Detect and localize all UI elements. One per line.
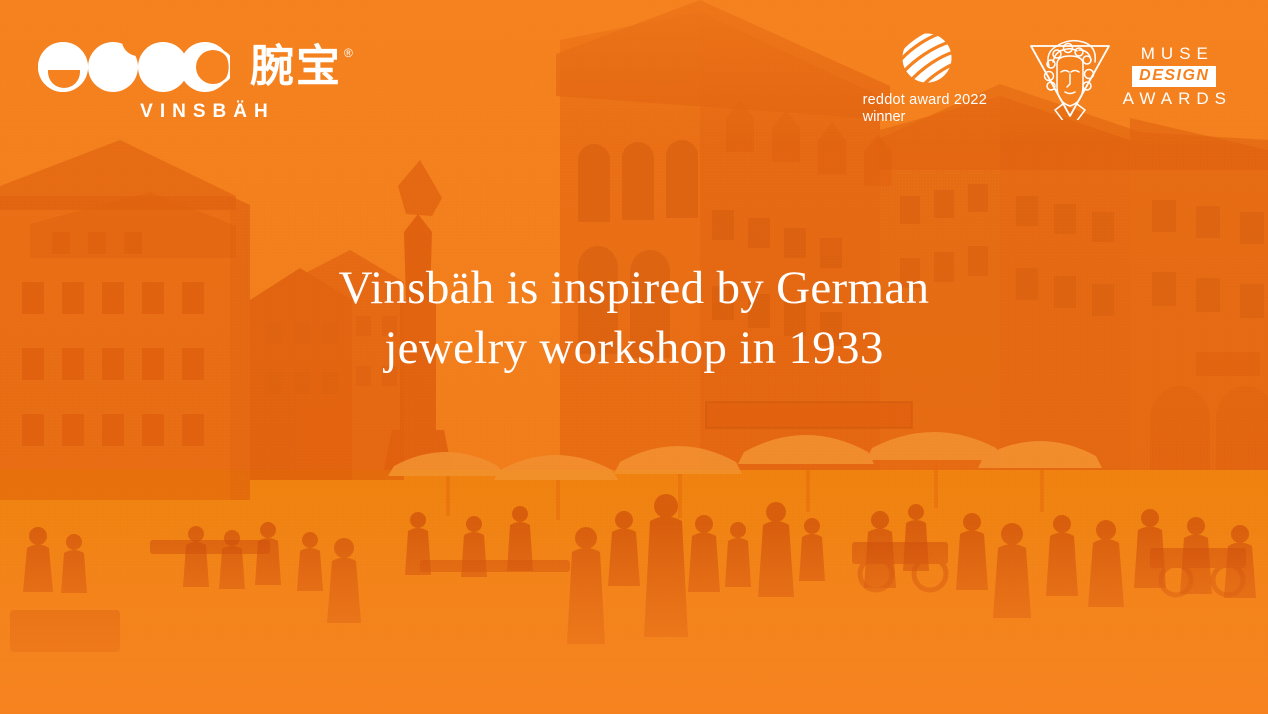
vinsbah-circles-logo — [38, 42, 230, 92]
muse-line-3: AWARDS — [1117, 90, 1232, 108]
award-badges: reddot award 2022 winner — [857, 32, 1232, 126]
chinese-brand-name: 腕宝 — [250, 43, 342, 91]
reddot-award-badge: reddot award 2022 winner — [857, 32, 997, 126]
muse-line-2: DESIGN — [1132, 66, 1216, 87]
brand-logo: 腕宝 ® VINSBÄH — [38, 42, 353, 123]
reddot-award-subtitle: winner — [857, 109, 997, 126]
headline-line-2: jewelry workshop in 1933 — [0, 318, 1268, 378]
reddot-sphere-icon — [901, 32, 953, 84]
logo-circles-row: 腕宝 ® — [38, 42, 353, 92]
headline: Vinsbäh is inspired by German jewelry wo… — [0, 258, 1268, 378]
muse-award-badge: MUSE DESIGN AWARDS — [1027, 32, 1232, 120]
brand-wordmark: VINSBÄH — [38, 101, 353, 123]
registered-trademark-icon: ® — [344, 47, 353, 59]
headline-line-1: Vinsbäh is inspired by German — [0, 258, 1268, 318]
chinese-brand-name-wrap: 腕宝 ® — [250, 43, 353, 91]
promo-slide: 腕宝 ® VINSBÄH — [0, 0, 1268, 714]
muse-medusa-triangle-icon — [1027, 32, 1113, 120]
muse-wordmark: MUSE DESIGN AWARDS — [1117, 45, 1232, 108]
reddot-award-title: reddot award 2022 — [857, 92, 997, 109]
logo-marks: 腕宝 ® VINSBÄH — [38, 42, 353, 123]
muse-line-1: MUSE — [1135, 45, 1214, 63]
